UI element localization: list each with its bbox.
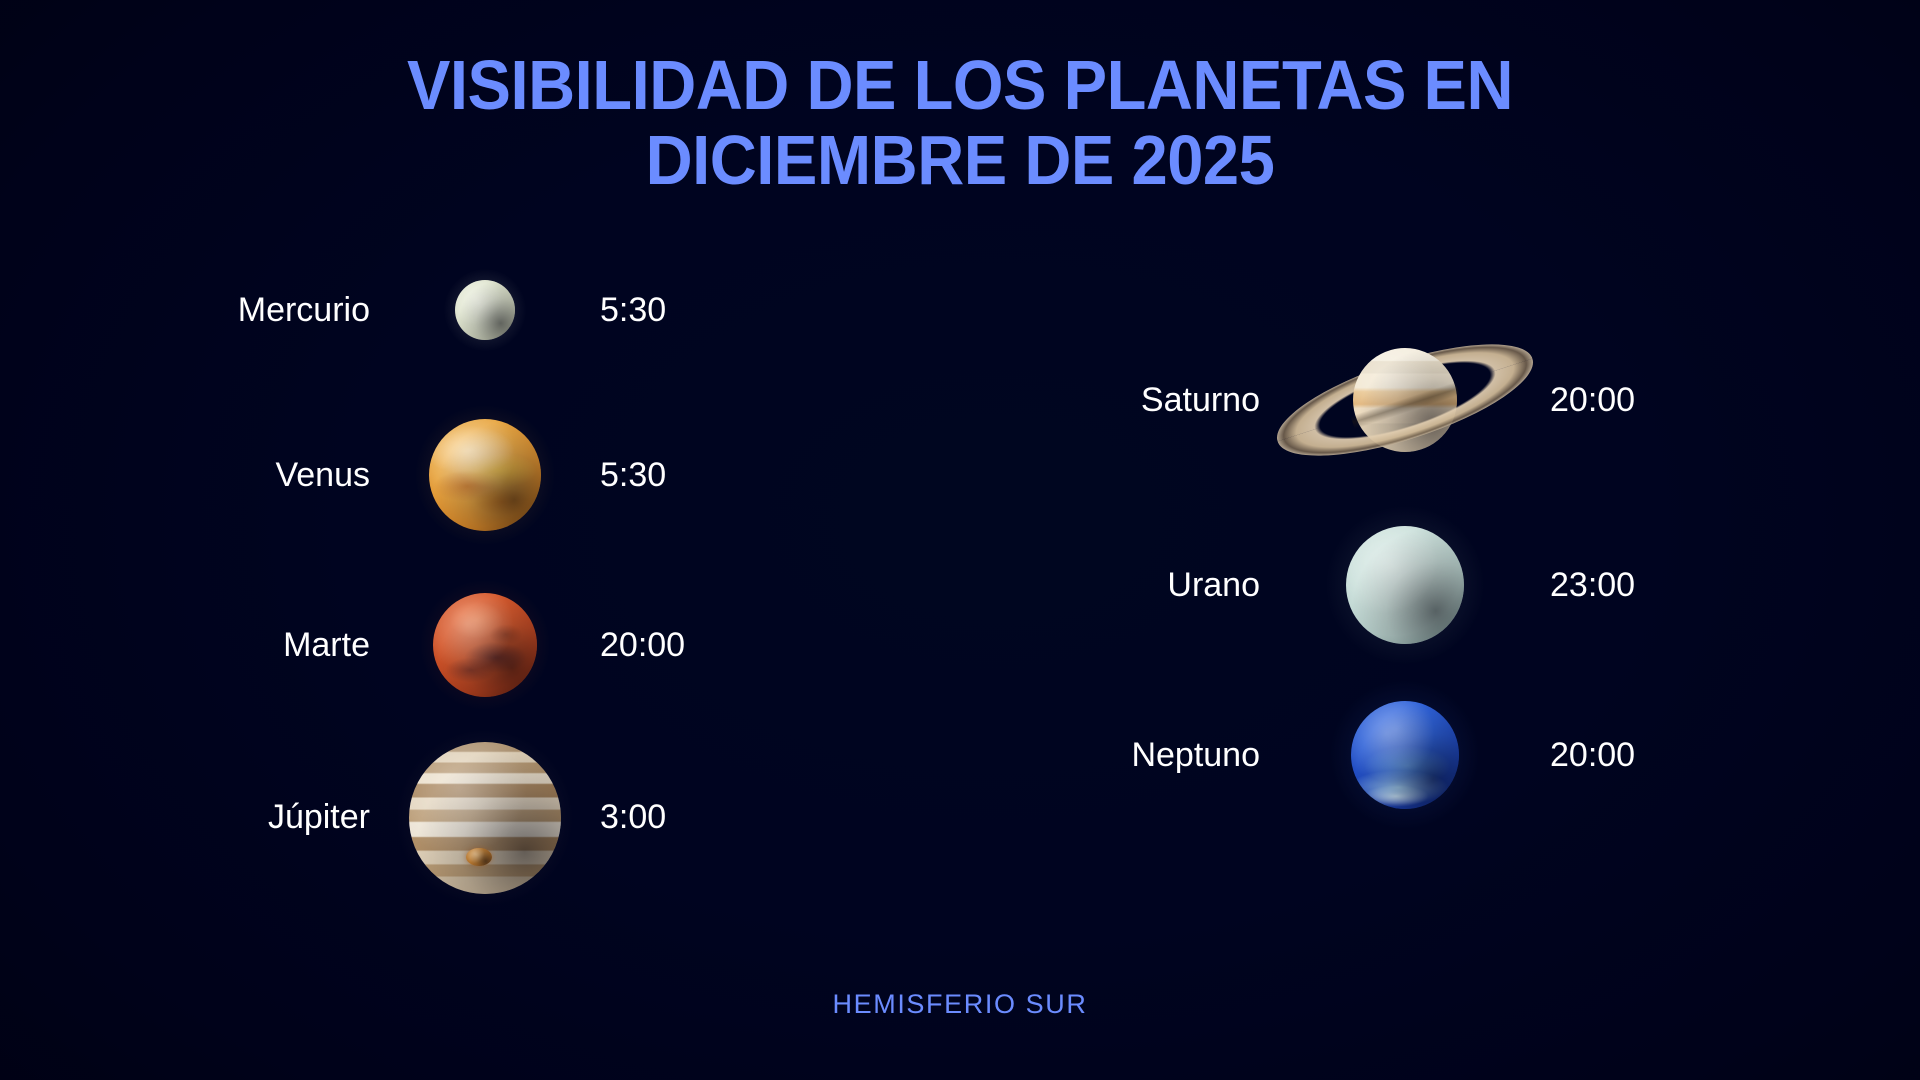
planet-time-urano: 23:00 (1550, 566, 1635, 605)
planet-time-neptuno: 20:00 (1550, 736, 1635, 775)
planet-time-jupiter: 3:00 (600, 798, 666, 837)
table-row: Júpiter 3:00 (110, 730, 840, 905)
planet-name-saturno: Saturno (1050, 381, 1260, 420)
planet-column-right: Saturno 20:00 Urano 23:00 (1050, 300, 1780, 840)
planet-mercury-icon (370, 230, 600, 390)
table-row: Neptuno 20:00 (1050, 670, 1780, 840)
planet-time-venus: 5:30 (600, 456, 666, 495)
table-row: Mercurio 5:30 (110, 230, 840, 390)
planet-time-marte: 20:00 (600, 626, 685, 665)
planet-column-left: Mercurio 5:30 Venus 5:30 Marte 20:00 (110, 230, 840, 905)
slide-canvas: VISIBILIDAD DE LOS PLANETAS EN DICIEMBRE… (0, 0, 1920, 1080)
planet-jupiter-icon (370, 730, 600, 905)
planet-time-saturno: 20:00 (1550, 381, 1635, 420)
table-row: Marte 20:00 (110, 560, 840, 730)
table-row: Venus 5:30 (110, 390, 840, 560)
table-row: Urano 23:00 (1050, 500, 1780, 670)
planet-name-marte: Marte (110, 626, 370, 665)
planet-name-urano: Urano (1050, 566, 1260, 605)
planet-name-jupiter: Júpiter (110, 798, 370, 837)
planet-mars-icon (370, 560, 600, 730)
planet-name-venus: Venus (110, 456, 370, 495)
planet-time-mercurio: 5:30 (600, 291, 666, 330)
table-row: Saturno 20:00 (1050, 300, 1780, 500)
planet-venus-icon (370, 390, 600, 560)
planet-neptune-icon (1260, 670, 1550, 840)
planet-name-neptuno: Neptuno (1050, 736, 1260, 775)
planet-name-mercurio: Mercurio (110, 291, 370, 330)
hemisphere-label: HEMISFERIO SUR (0, 989, 1920, 1020)
planet-saturn-icon (1260, 300, 1550, 500)
page-title: VISIBILIDAD DE LOS PLANETAS EN DICIEMBRE… (67, 48, 1853, 198)
planet-uranus-icon (1260, 500, 1550, 670)
